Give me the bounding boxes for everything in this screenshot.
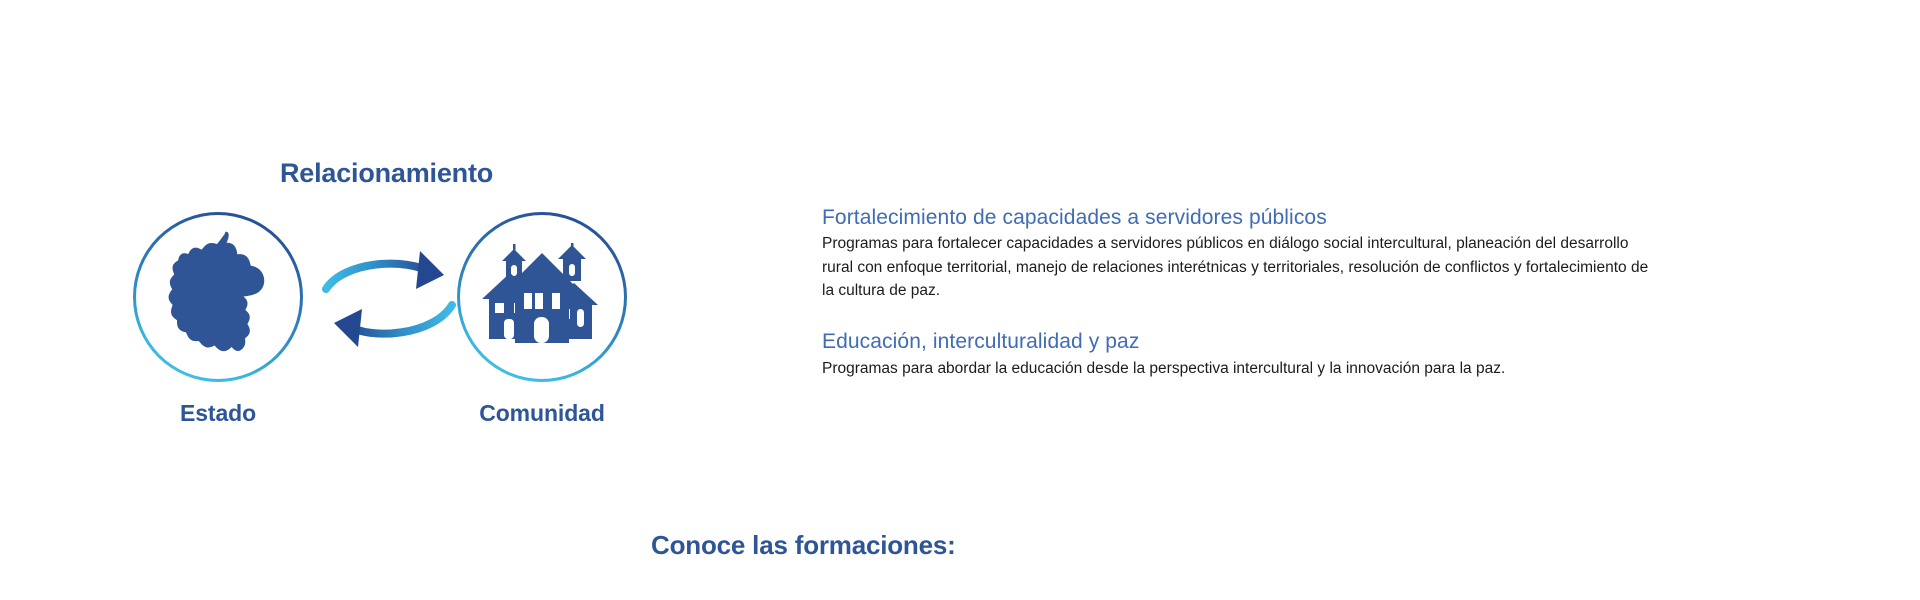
estado-label: Estado [133,400,303,427]
program-block: Educación, interculturalidad y paz Progr… [822,329,1892,380]
programs-column: Fortalecimiento de capacidades a servido… [822,205,1892,380]
comunidad-label: Comunidad [457,400,627,427]
houses-community-icon [480,243,604,352]
colombia-map-icon [162,231,274,364]
two-way-cycle-arrows-icon [320,245,460,355]
diagram-title: Relacionamiento [280,158,493,189]
program-block: Fortalecimiento de capacidades a servido… [822,205,1892,302]
diagram-node-estado: Estado [133,212,303,427]
program-body: Programas para fortalecer capacidades a … [822,232,1652,302]
formations-heading: Conoce las formaciones: [651,530,956,561]
relationship-diagram: Relacionamiento Estado [0,140,760,460]
program-body: Programas para abordar la educación desd… [822,357,1652,380]
diagram-node-comunidad: Comunidad [457,212,627,427]
program-heading: Educación, interculturalidad y paz [822,329,1892,355]
comunidad-circle [457,212,627,382]
program-heading: Fortalecimiento de capacidades a servido… [822,205,1892,231]
page-canvas: Relacionamiento Estado [0,0,1920,600]
estado-circle [133,212,303,382]
